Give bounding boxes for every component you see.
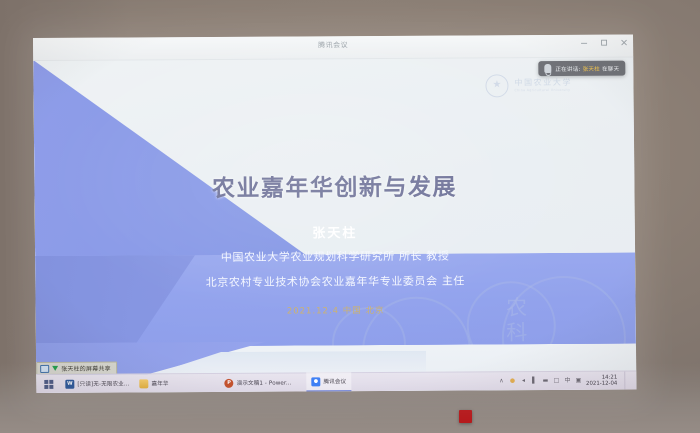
slide-title: 农业嘉年华创新与发展	[34, 167, 634, 204]
ime-icon[interactable]: 中	[564, 377, 571, 384]
shield-icon[interactable]: ●	[509, 378, 516, 385]
toast-speaker-name: 张天柱	[583, 66, 600, 72]
screen-share-label: 张天柱的屏幕共享	[61, 364, 111, 373]
windows-start-icon[interactable]	[36, 375, 60, 393]
volume-icon[interactable]: ◂	[520, 378, 527, 385]
slide-speaker-name: 张天柱	[35, 221, 635, 243]
active-speaker-toast: 正在讲话: 张天柱 在聊天	[538, 61, 625, 77]
microphone-icon	[544, 64, 551, 73]
chevron-up-icon[interactable]: ∧	[498, 378, 505, 385]
system-tray: ∧ ● ◂ ▌ ▬ □ 中 ▣ 14:21 2021-12-04	[498, 372, 636, 391]
clock-date: 2021-12-04	[586, 381, 617, 388]
window-controls	[580, 39, 629, 47]
maximize-icon[interactable]	[600, 39, 609, 47]
active-speaker-text: 正在讲话: 张天柱 在聊天	[555, 64, 619, 72]
university-name-cn: 中国农业大学	[514, 78, 572, 87]
taskbar-item-label: [只读]无-无限农业...	[77, 379, 129, 387]
window-titlebar: 腾讯会议	[33, 35, 633, 61]
tencent-meeting-icon: ●	[311, 377, 320, 386]
toast-prefix: 正在讲话:	[555, 66, 580, 72]
tray-extra-icon[interactable]: ▣	[575, 377, 582, 384]
presentation-slide: 农科大學 ★ 中国农业大学 China Agricultural Univers…	[33, 57, 636, 393]
monitor-icon	[40, 364, 49, 372]
share-arrow-icon	[52, 366, 58, 371]
battery-icon[interactable]: ▌	[531, 378, 538, 385]
taskbar-clock[interactable]: 14:21 2021-12-04	[586, 374, 620, 387]
windows-taskbar: W [只读]无-无限农业... 嘉年华 P 演示文稿1 - Power... ●…	[36, 371, 636, 393]
network-icon[interactable]: ▬	[542, 378, 549, 385]
toast-suffix: 在聊天	[602, 66, 619, 72]
taskbar-item-label: 嘉年华	[151, 379, 168, 387]
university-name-en: China Agricultural University	[515, 88, 573, 92]
taskbar-item-tencent-meeting[interactable]: ● 腾讯会议	[306, 372, 351, 392]
powerpoint-icon: P	[225, 378, 234, 387]
taskbar-item-folder[interactable]: 嘉年华	[134, 374, 173, 392]
taskbar-item-word[interactable]: W [只读]无-无限农业...	[60, 374, 134, 392]
close-icon[interactable]	[620, 39, 629, 47]
word-icon: W	[65, 379, 74, 388]
university-seal-icon: ★	[485, 74, 508, 97]
projected-screen: 腾讯会议 正在讲话: 张天柱 在聊天	[33, 35, 636, 393]
display-icon[interactable]: □	[553, 377, 560, 384]
university-logo-text: 中国农业大学 China Agricultural University	[514, 78, 572, 92]
taskbar-item-label: 腾讯会议	[323, 377, 346, 385]
red-floor-object	[459, 410, 472, 423]
taskbar-item-powerpoint[interactable]: P 演示文稿1 - Power...	[220, 373, 297, 391]
window-title: 腾讯会议	[318, 40, 348, 50]
taskbar-item-label: 演示文稿1 - Power...	[237, 379, 292, 387]
show-desktop-button[interactable]	[624, 372, 632, 390]
folder-icon	[139, 379, 148, 388]
minimize-icon[interactable]	[580, 39, 589, 47]
